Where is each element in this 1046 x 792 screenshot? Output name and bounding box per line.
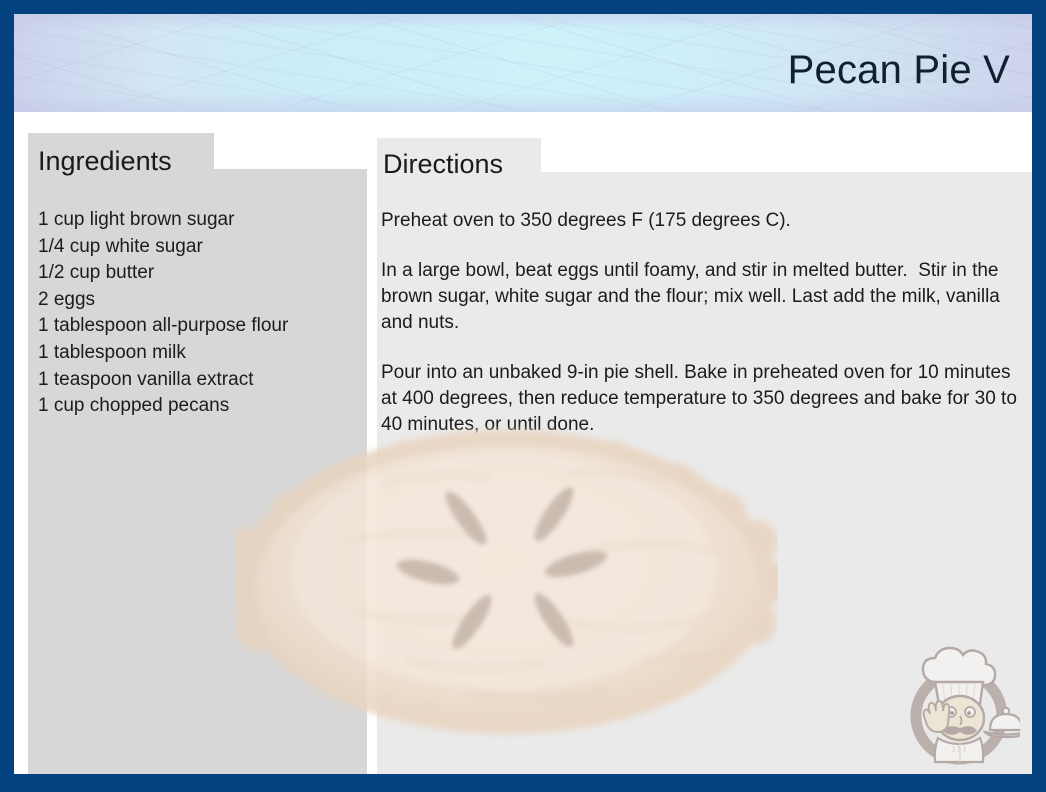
page-title: Pecan Pie V	[788, 47, 1010, 93]
panel-gutter	[367, 133, 377, 774]
recipe-card: Pecan Pie V Ingredients Directions 1 cup…	[0, 0, 1046, 792]
ingredient-item: 1/4 cup white sugar	[38, 234, 358, 261]
recipe-page-surface: Pecan Pie V Ingredients Directions 1 cup…	[14, 14, 1032, 774]
directions-heading: Directions	[383, 148, 503, 180]
ingredients-heading: Ingredients	[38, 145, 172, 177]
direction-paragraph: Preheat oven to 350 degrees F (175 degre…	[381, 208, 1029, 234]
ingredient-item: 1 cup chopped pecans	[38, 393, 358, 420]
ingredient-item: 1 cup light brown sugar	[38, 207, 358, 234]
ingredient-item: 2 eggs	[38, 287, 358, 314]
direction-paragraph: In a large bowl, beat eggs until foamy, …	[381, 258, 1029, 336]
directions-body: Preheat oven to 350 degrees F (175 degre…	[381, 208, 1029, 438]
ingredient-item: 1 tablespoon all-purpose flour	[38, 313, 358, 340]
ingredient-item: 1 tablespoon milk	[38, 340, 358, 367]
ingredients-list: 1 cup light brown sugar 1/4 cup white su…	[38, 207, 358, 420]
ingredient-item: 1/2 cup butter	[38, 260, 358, 287]
direction-paragraph: Pour into an unbaked 9-in pie shell. Bak…	[381, 360, 1029, 438]
left-margin-strip	[14, 133, 28, 774]
ingredient-item: 1 teaspoon vanilla extract	[38, 367, 358, 394]
